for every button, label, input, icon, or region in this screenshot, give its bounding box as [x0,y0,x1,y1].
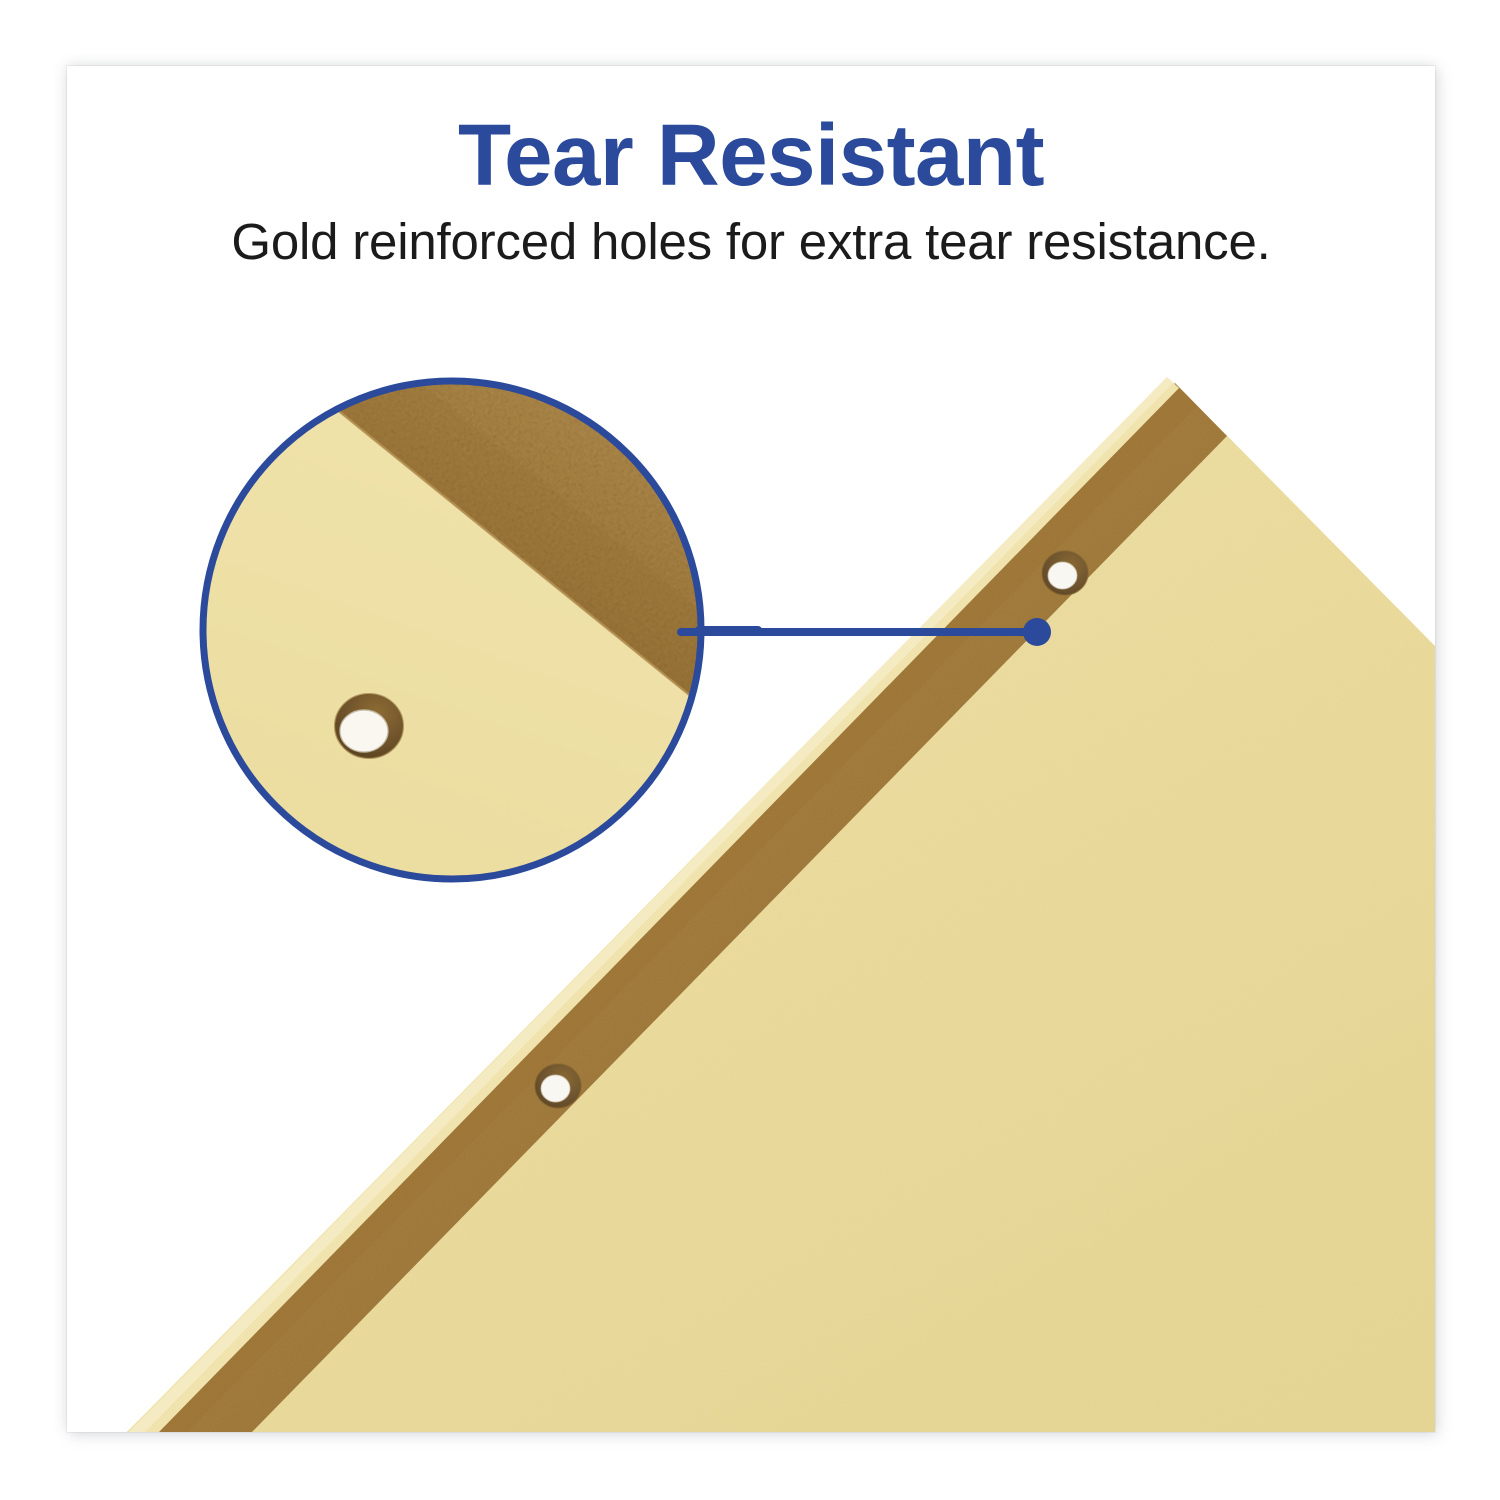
magnified-divider-edge [133,372,781,932]
product-card: Tear Resistant Gold reinforced holes for… [67,66,1435,1432]
magnifier-content [133,372,781,932]
punched-hole-upper [1042,551,1088,595]
leader-endpoint-dot [1023,618,1051,646]
product-feature-image: Tear Resistant Gold reinforced holes for… [0,0,1500,1500]
punched-hole-lower [535,1064,581,1108]
punched-hole-icon [335,694,403,758]
leader-line-extension [681,612,1141,652]
magnifier-callout [133,372,781,932]
magnifier-circle-icon [133,372,781,932]
